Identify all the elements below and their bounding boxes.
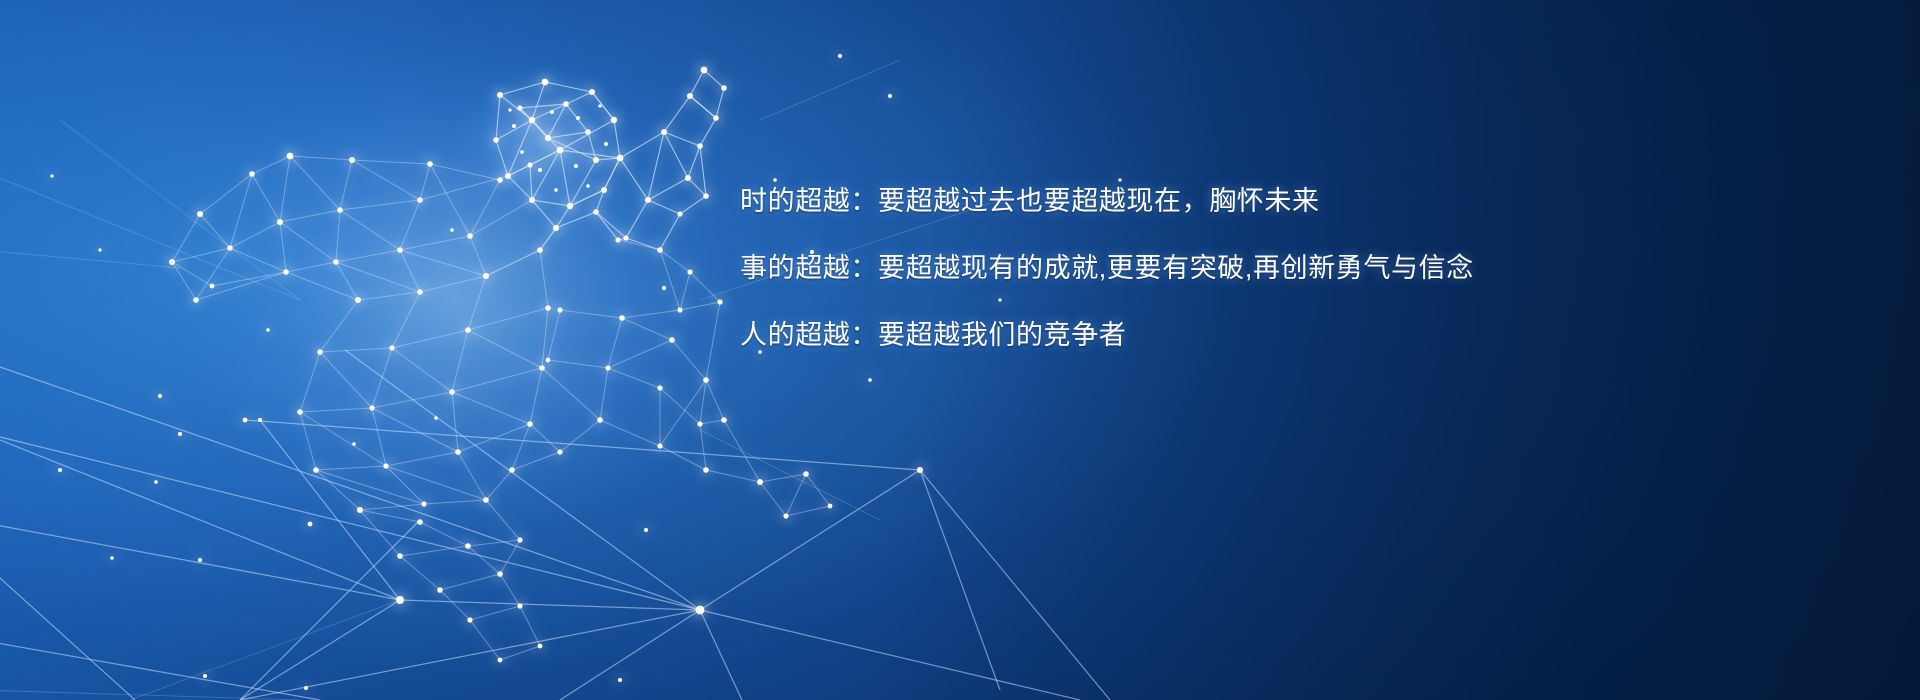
slogan-line-3: 人的超越：要超越我们的竞争者	[740, 322, 1840, 349]
slogan-line-2: 事的超越：要超越现有的成就,更要有突破,再创新勇气与信念	[740, 255, 1840, 282]
hero-banner: 时的超越：要超越过去也要超越现在，胸怀未来 事的超越：要超越现有的成就,更要有突…	[0, 0, 1920, 700]
wireframe-runner-artwork	[0, 0, 1920, 700]
slogan-block: 时的超越：要超越过去也要超越现在，胸怀未来 事的超越：要超越现有的成就,更要有突…	[740, 188, 1840, 349]
slogan-line-1: 时的超越：要超越过去也要超越现在，胸怀未来	[740, 188, 1840, 215]
